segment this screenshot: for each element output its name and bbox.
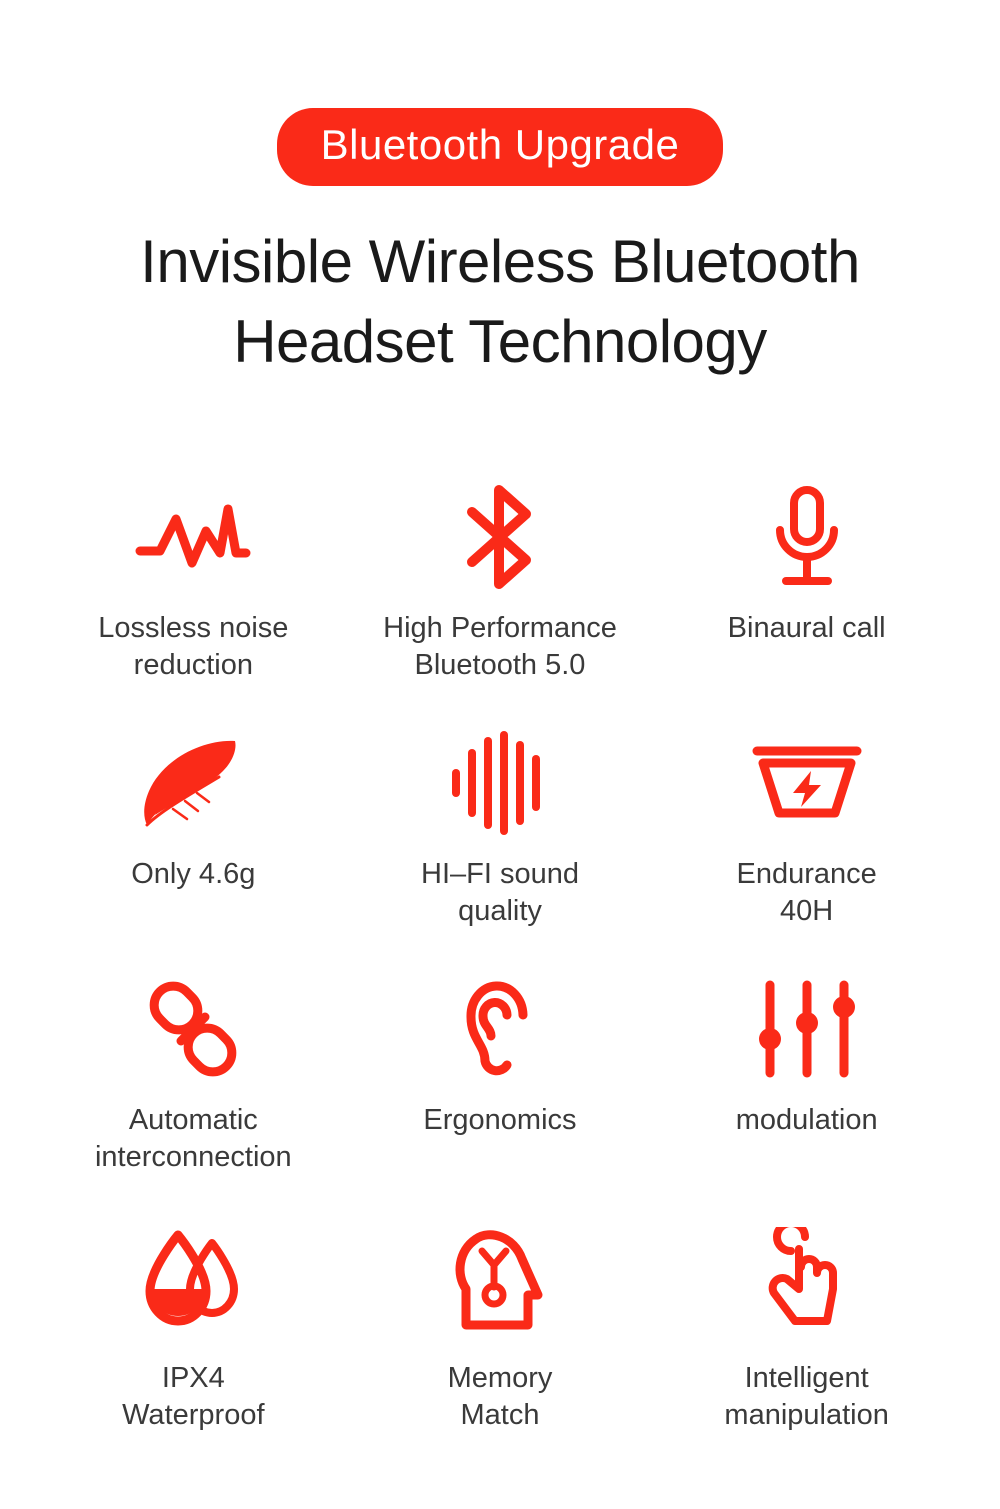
ear-icon [457, 970, 543, 1088]
battery-charge-icon [749, 724, 865, 842]
sliders-icon [752, 970, 862, 1088]
feather-icon [133, 724, 253, 842]
feature-label: Lossless noise reduction [98, 610, 288, 684]
feature-item-ergonomics: Ergonomics [347, 970, 654, 1216]
product-feature-page: Bluetooth Upgrade Invisible Wireless Blu… [0, 0, 1000, 1509]
feature-item-intelligent-manipulation: Intelligent manipulation [653, 1216, 960, 1462]
bluetooth-icon [454, 478, 546, 596]
feature-item-lossless-noise-reduction: Lossless noise reduction [40, 478, 347, 724]
feature-grid: Lossless noise reduction High Performanc… [0, 478, 1000, 1462]
feature-item-waterproof: IPX4 Waterproof [40, 1216, 347, 1462]
chain-link-icon [141, 970, 245, 1088]
feature-item-modulation: modulation [653, 970, 960, 1216]
feature-item-automatic-interconnection: Automatic interconnection [40, 970, 347, 1216]
feature-label: Automatic interconnection [95, 1102, 292, 1176]
badge-row: Bluetooth Upgrade [0, 0, 1000, 186]
feature-label: HI–FI sound quality [421, 856, 579, 930]
feature-item-weight: Only 4.6g [40, 724, 347, 970]
page-title: Invisible Wireless Bluetooth Headset Tec… [0, 222, 1000, 382]
touch-hand-icon [761, 1216, 853, 1342]
feature-label: Endurance 40H [737, 856, 877, 930]
feature-label: Intelligent manipulation [724, 1360, 888, 1434]
feature-item-bluetooth-5: High Performance Bluetooth 5.0 [347, 478, 654, 724]
waveform-icon [134, 478, 252, 596]
bluetooth-upgrade-badge: Bluetooth Upgrade [277, 108, 724, 186]
feature-label: Ergonomics [423, 1102, 576, 1139]
feature-label: modulation [736, 1102, 878, 1139]
feature-item-memory-match: Memory Match [347, 1216, 654, 1462]
head-memory-icon [452, 1216, 548, 1342]
water-drops-icon [138, 1216, 248, 1342]
microphone-icon [764, 478, 850, 596]
feature-label: High Performance Bluetooth 5.0 [383, 610, 617, 684]
feature-label: Memory Match [448, 1360, 553, 1434]
feature-label: IPX4 Waterproof [122, 1360, 264, 1434]
feature-label: Only 4.6g [131, 856, 255, 893]
feature-item-binaural-call: Binaural call [653, 478, 960, 724]
feature-label: Binaural call [728, 610, 886, 647]
feature-item-hifi-sound: HI–FI sound quality [347, 724, 654, 970]
feature-item-endurance: Endurance 40H [653, 724, 960, 970]
sound-bars-icon [446, 724, 554, 842]
